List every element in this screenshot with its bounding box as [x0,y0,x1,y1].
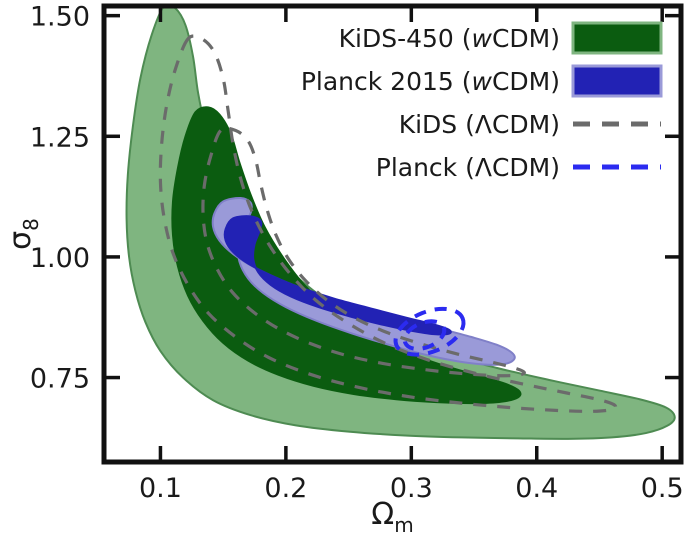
x-tick-label: 0.1 [139,473,182,504]
legend-label-post-3: ΛCDM) [475,153,560,182]
legend-label-1: Planck 2015 (wCDM) [301,67,560,96]
legend-label-post-0: CDM) [492,24,560,53]
y-tick-label: 0.75 [30,364,90,395]
legend-swatch-1 [573,66,661,96]
x-tick-label: 0.4 [515,473,558,504]
x-tick-label: 0.3 [390,473,433,504]
y-tick-label: 1.00 [30,243,90,274]
legend-swatch-0 [573,23,661,53]
legend-label-post-2: ΛCDM) [475,110,560,139]
x-tick-label: 0.5 [641,473,684,504]
legend-label-2: KiDS (ΛCDM) [399,110,560,139]
x-axis-subscript: m [394,513,413,534]
y-axis-subscript: 8 [19,218,43,231]
x-tick-label: 0.2 [264,473,307,504]
contour-plot: 0.10.20.30.40.50.751.001.251.50Ωmσ8 KiDS… [0,0,700,534]
legend-italic-0: w [472,24,493,53]
legend-label-post-1: CDM) [492,67,560,96]
legend-label-3: Planck (ΛCDM) [376,153,560,182]
y-tick-label: 1.50 [30,2,90,33]
figure-root: 0.10.20.30.40.50.751.001.251.50Ωmσ8 KiDS… [0,0,700,534]
legend-italic-1: w [472,67,493,96]
y-tick-label: 1.25 [30,122,90,153]
legend-label-0: KiDS-450 (wCDM) [339,24,560,53]
